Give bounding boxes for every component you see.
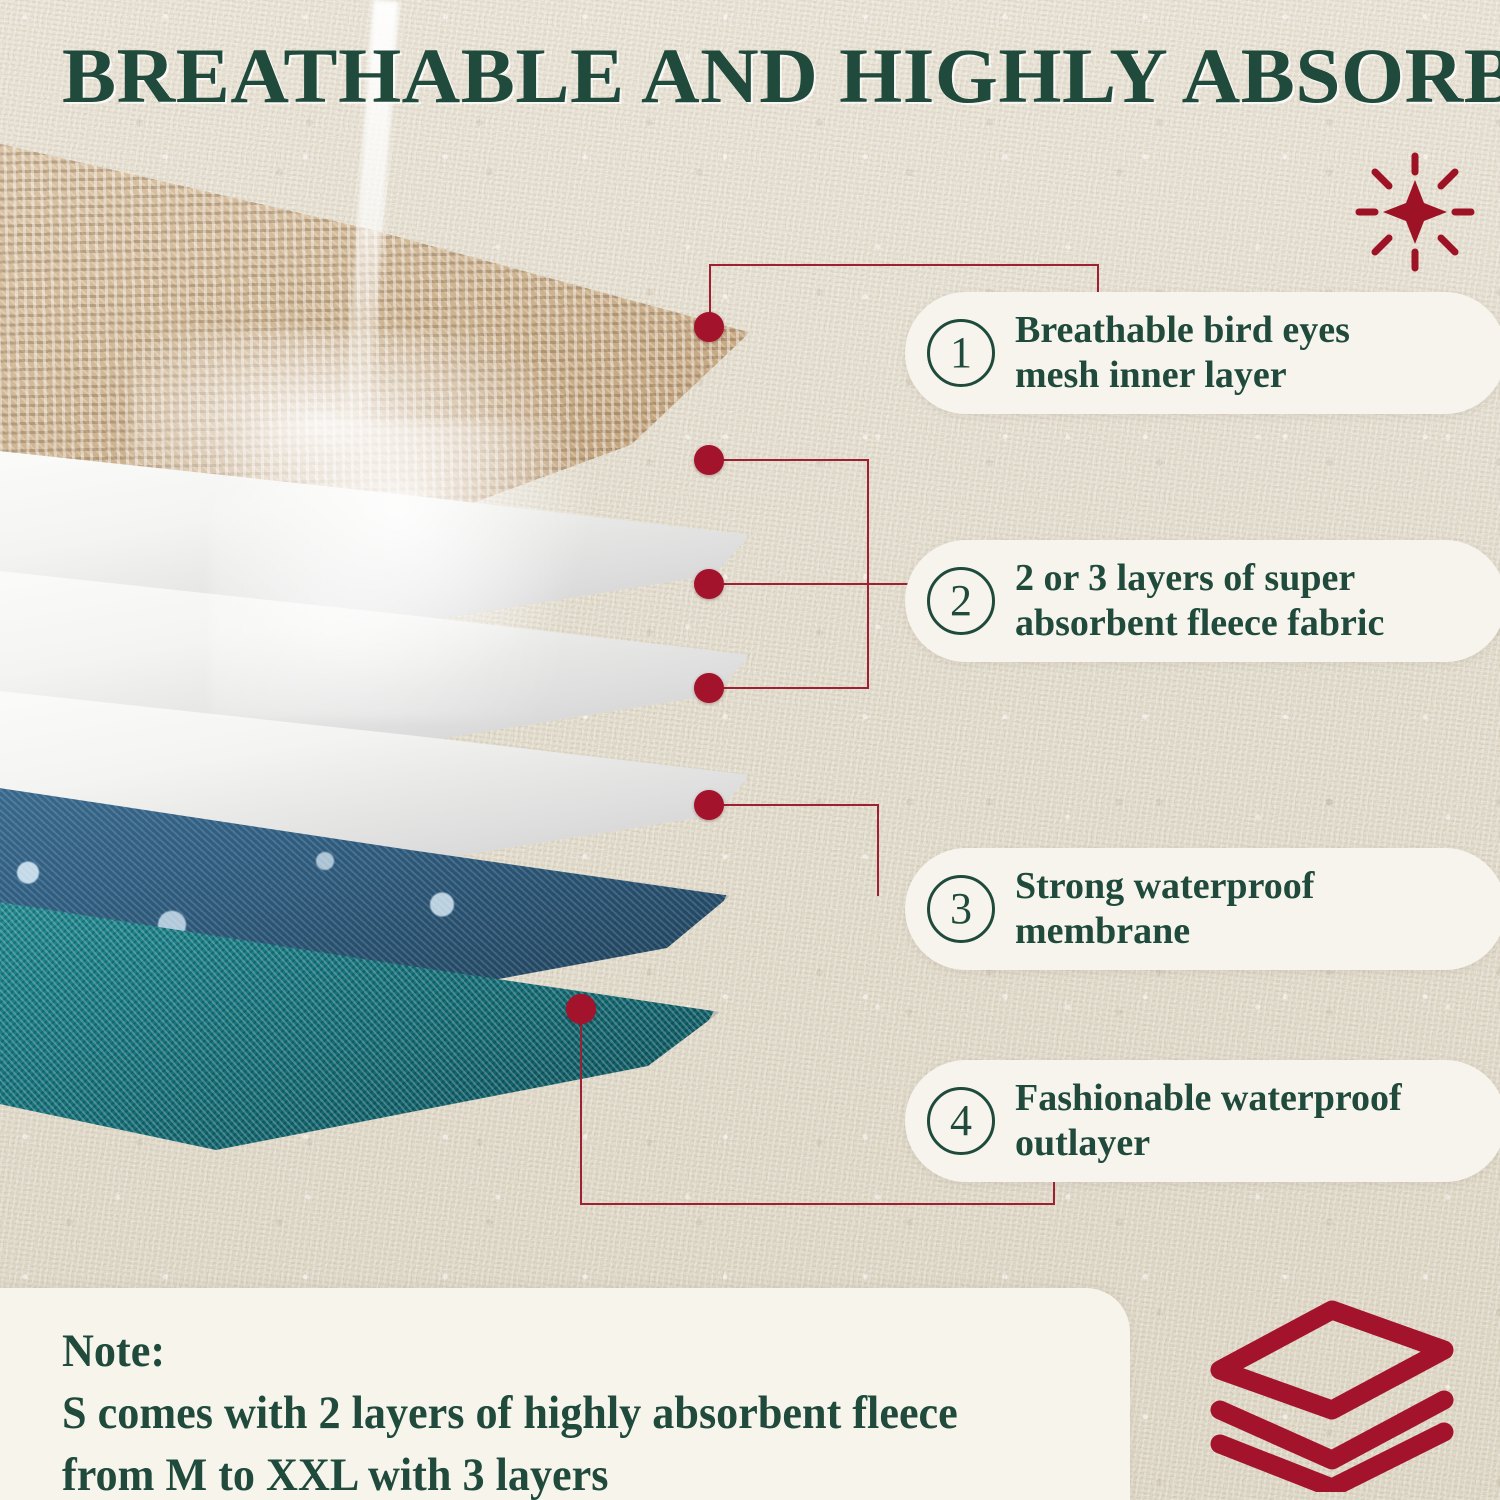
sparkle-icon: [1355, 152, 1475, 272]
leader-2-horizontal-c: [709, 687, 869, 689]
leader-1-horizontal: [709, 264, 1099, 266]
layers-stack-icon: [1182, 1292, 1482, 1492]
page-title: BREATHABLE AND HIGHLY ABSORBENT: [62, 34, 1500, 118]
leader-2-bus: [867, 459, 869, 689]
callout-1-label: Breathable bird eyes mesh inner layer: [1015, 308, 1350, 398]
callout-4-label: Fashionable waterproof outlayer: [1015, 1076, 1402, 1166]
leader-4-vertical-left: [580, 1008, 582, 1204]
leader-3-horizontal: [709, 804, 879, 806]
callout-3[interactable]: 3 Strong waterproof membrane: [905, 848, 1500, 970]
callout-1[interactable]: 1 Breathable bird eyes mesh inner layer: [905, 292, 1500, 414]
callout-4-number: 4: [927, 1087, 995, 1155]
note-text: Note: S comes with 2 layers of highly ab…: [62, 1320, 1021, 1500]
leader-3-vertical: [877, 804, 879, 896]
fabric-layers-illustration: [0, 90, 840, 1240]
leader-dot-2c: [694, 673, 724, 703]
callout-2[interactable]: 2 2 or 3 layers of super absorbent fleec…: [905, 540, 1500, 662]
callout-2-number: 2: [927, 567, 995, 635]
callout-3-number: 3: [927, 875, 995, 943]
leader-dot-4: [566, 994, 596, 1024]
leader-dot-3: [694, 790, 724, 820]
leader-dot-2a: [694, 445, 724, 475]
leader-2-horizontal-a: [709, 459, 869, 461]
note-panel: Note: S comes with 2 layers of highly ab…: [0, 1288, 1130, 1500]
leader-dot-1: [694, 312, 724, 342]
leader-2-horizontal-b: [709, 583, 911, 585]
leader-4-horizontal: [580, 1203, 1055, 1205]
callout-2-label: 2 or 3 layers of super absorbent fleece …: [1015, 556, 1384, 646]
leader-dot-2b: [694, 569, 724, 599]
callout-1-number: 1: [927, 319, 995, 387]
water-splash: [210, 420, 630, 720]
callout-4[interactable]: 4 Fashionable waterproof outlayer: [905, 1060, 1500, 1182]
infographic-canvas: BREATHABLE AND HIGHLY ABSORBENT 1: [0, 0, 1500, 1500]
callout-3-label: Strong waterproof membrane: [1015, 864, 1314, 954]
